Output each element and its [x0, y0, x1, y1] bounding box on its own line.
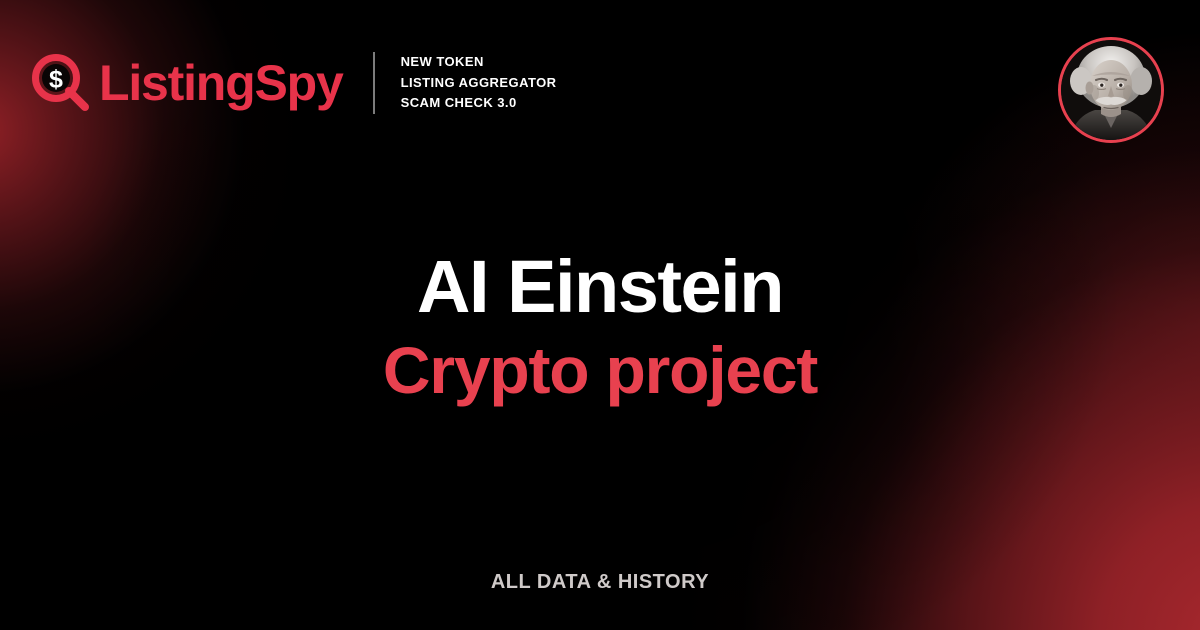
brand-logo-link[interactable]: $ ListingSpy — [32, 54, 343, 112]
brand-wordmark-spy: Spy — [254, 55, 342, 111]
einstein-portrait-avatar — [1058, 37, 1164, 143]
brand-wordmark: ListingSpy — [99, 58, 343, 108]
og-preview-card: $ ListingSpy NEW TOKEN LISTING AGGREGATO… — [0, 0, 1200, 630]
tagline-line-1: NEW TOKEN — [401, 53, 557, 71]
magnifier-dollar-logo-icon: $ — [32, 54, 90, 112]
brand-tagline: NEW TOKEN LISTING AGGREGATOR SCAM CHECK … — [401, 53, 557, 112]
hero-block: AI Einstein Crypto project — [0, 246, 1200, 408]
page-subtitle: Crypto project — [0, 333, 1200, 408]
tagline-line-2: LISTING AGGREGATOR — [401, 74, 557, 92]
header-divider — [373, 52, 375, 114]
footer-note: ALL DATA & HISTORY — [0, 571, 1200, 594]
svg-text:$: $ — [49, 66, 63, 94]
site-header: $ ListingSpy NEW TOKEN LISTING AGGREGATO… — [32, 52, 557, 114]
brand-wordmark-listing: Listing — [99, 55, 254, 111]
page-title: AI Einstein — [0, 246, 1200, 329]
tagline-line-3: SCAM CHECK 3.0 — [401, 94, 557, 112]
